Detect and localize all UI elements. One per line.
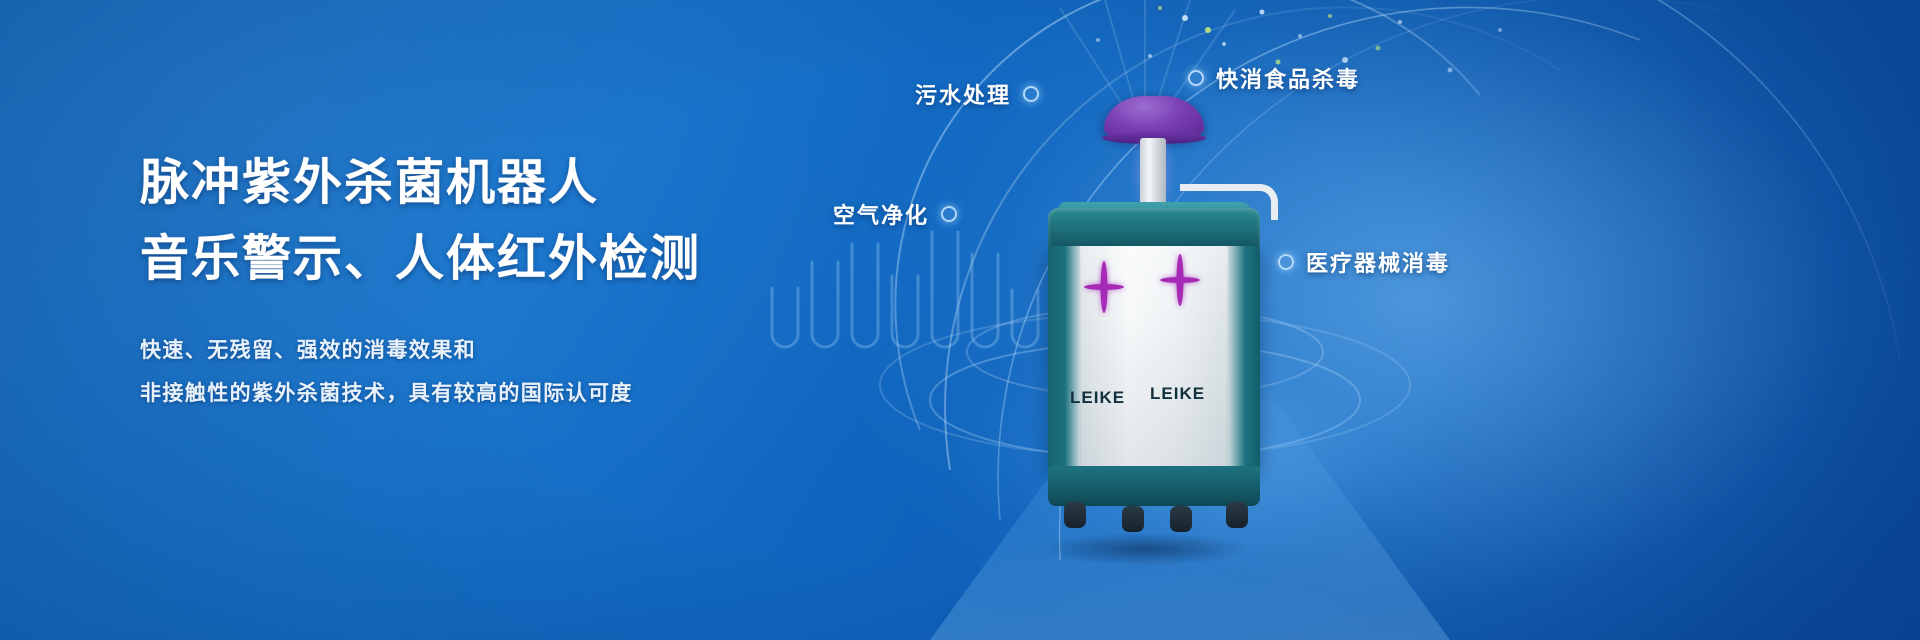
feature-medical[interactable]: 医疗器械消毒 — [1278, 246, 1450, 278]
sparkle-star-icon — [1082, 261, 1126, 313]
subcopy-line-2: 非接触性的紫外杀菌技术，具有较高的国际认可度 — [140, 372, 860, 415]
feature-label-food: 快消食品杀毒 — [1216, 62, 1360, 94]
feature-sewage[interactable]: 污水处理 — [915, 78, 1039, 110]
feature-food[interactable]: 快消食品杀毒 — [1188, 62, 1360, 94]
headline-line-1: 脉冲紫外杀菌机器人 — [140, 150, 860, 218]
copy-block: 脉冲紫外杀菌机器人 音乐警示、人体红外检测 快速、无残留、强效的消毒效果和 非接… — [140, 150, 860, 415]
feature-air[interactable]: 空气净化 — [833, 198, 957, 230]
device-top-housing — [1048, 208, 1260, 250]
feature-label-air: 空气净化 — [833, 198, 929, 230]
device-wheel — [1170, 506, 1192, 532]
feature-label-medical: 医疗器械消毒 — [1306, 246, 1450, 278]
device-wheel — [1064, 502, 1086, 528]
promo-banner: 脉冲紫外杀菌机器人 音乐警示、人体红外检测 快速、无残留、强效的消毒效果和 非接… — [0, 0, 1920, 640]
device-wheel — [1226, 502, 1248, 528]
circle-marker-icon — [1188, 70, 1204, 86]
uv-disinfection-robot: LEIKE LEIKE — [1030, 96, 1260, 496]
subcopy-block: 快速、无残留、强效的消毒效果和 非接触性的紫外杀菌技术，具有较高的国际认可度 — [140, 329, 860, 415]
circle-marker-icon — [941, 206, 957, 222]
device-base — [1048, 466, 1260, 506]
sparkle-star-icon — [1158, 254, 1202, 306]
brand-logo-right: LEIKE — [1150, 384, 1205, 404]
feature-label-sewage: 污水处理 — [915, 78, 1011, 110]
headline-line-2: 音乐警示、人体红外检测 — [140, 226, 860, 294]
device-wheel — [1122, 506, 1144, 532]
circle-marker-icon — [1278, 254, 1294, 270]
device-shadow — [1000, 526, 1290, 572]
subcopy-line-1: 快速、无残留、强效的消毒效果和 — [140, 329, 860, 372]
brand-logo-left: LEIKE — [1070, 388, 1125, 408]
